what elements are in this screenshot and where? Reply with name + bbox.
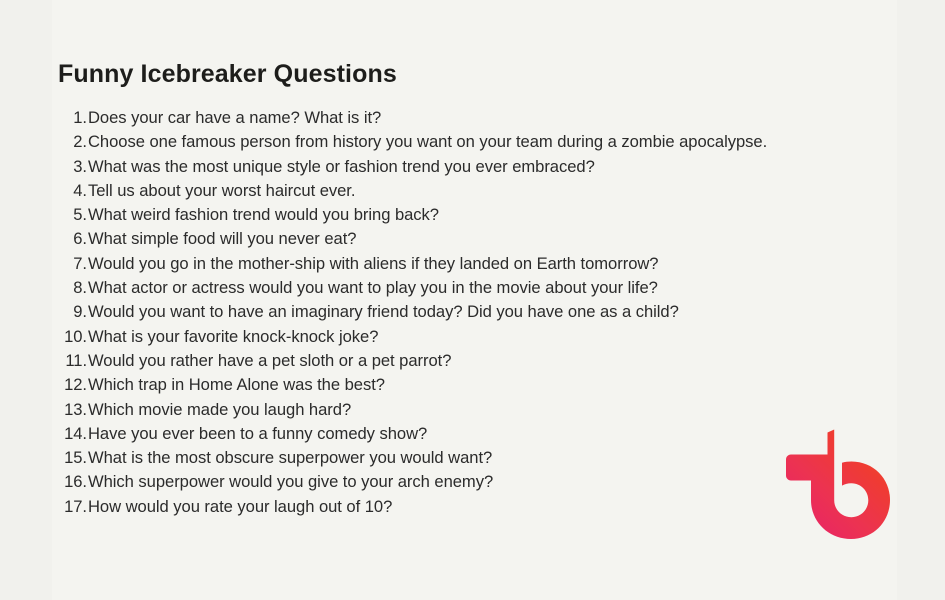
- list-item-number: 5.: [0, 203, 88, 227]
- list-item-text: Have you ever been to a funny comedy sho…: [88, 422, 778, 446]
- list-item: 2.Choose one famous person from history …: [0, 130, 860, 154]
- list-item-number: 10.: [0, 325, 88, 349]
- list-item-text: Does your car have a name? What is it?: [88, 106, 778, 130]
- list-item-text: Tell us about your worst haircut ever.: [88, 179, 778, 203]
- list-item-text: Which superpower would you give to your …: [88, 470, 778, 494]
- slide-canvas: Funny Icebreaker Questions 1.Does your c…: [0, 0, 945, 600]
- list-item: 8.What actor or actress would you want t…: [0, 276, 860, 300]
- list-item-text: Would you want to have an imaginary frie…: [88, 300, 778, 324]
- list-item: 4.Tell us about your worst haircut ever.: [0, 179, 860, 203]
- list-item-text: Would you go in the mother-ship with ali…: [88, 252, 778, 276]
- list-item: 5.What weird fashion trend would you bri…: [0, 203, 860, 227]
- list-item-text: Would you rather have a pet sloth or a p…: [88, 349, 778, 373]
- list-item-text: What was the most unique style or fashio…: [88, 155, 778, 179]
- list-item: 7.Would you go in the mother-ship with a…: [0, 252, 860, 276]
- list-item-number: 12.: [0, 373, 88, 397]
- list-item: 3.What was the most unique style or fash…: [0, 155, 860, 179]
- list-item-number: 14.: [0, 422, 88, 446]
- list-item-text: What is your favorite knock-knock joke?: [88, 325, 778, 349]
- list-item-number: 15.: [0, 446, 88, 470]
- list-item-number: 9.: [0, 300, 88, 324]
- list-item-number: 8.: [0, 276, 88, 300]
- list-item: 14.Have you ever been to a funny comedy …: [0, 422, 860, 446]
- list-item-text: What weird fashion trend would you bring…: [88, 203, 778, 227]
- list-item-text: Choose one famous person from history yo…: [88, 130, 778, 154]
- list-item-number: 3.: [0, 155, 88, 179]
- list-item-number: 16.: [0, 470, 88, 494]
- list-item: 10.What is your favorite knock-knock jok…: [0, 325, 860, 349]
- question-list: 1.Does your car have a name? What is it?…: [0, 106, 860, 519]
- list-item: 13.Which movie made you laugh hard?: [0, 398, 860, 422]
- list-item-number: 7.: [0, 252, 88, 276]
- list-item-number: 17.: [0, 495, 88, 519]
- list-item-number: 13.: [0, 398, 88, 422]
- list-item-number: 1.: [0, 106, 88, 130]
- list-item-number: 11.: [0, 349, 88, 373]
- list-item: 12.Which trap in Home Alone was the best…: [0, 373, 860, 397]
- right-edge-band: [897, 0, 945, 600]
- list-item: 16.Which superpower would you give to yo…: [0, 470, 860, 494]
- list-item-text: What simple food will you never eat?: [88, 227, 778, 251]
- list-item-number: 2.: [0, 130, 88, 154]
- list-item: 15.What is the most obscure superpower y…: [0, 446, 860, 470]
- list-item-text: What actor or actress would you want to …: [88, 276, 778, 300]
- list-item: 17.How would you rate your laugh out of …: [0, 495, 860, 519]
- list-item-text: Which movie made you laugh hard?: [88, 398, 778, 422]
- list-item-text: What is the most obscure superpower you …: [88, 446, 778, 470]
- list-item: 1.Does your car have a name? What is it?: [0, 106, 860, 130]
- list-item: 9.Would you want to have an imaginary fr…: [0, 300, 860, 324]
- list-item: 6.What simple food will you never eat?: [0, 227, 860, 251]
- list-item-text: Which trap in Home Alone was the best?: [88, 373, 778, 397]
- list-item-number: 6.: [0, 227, 88, 251]
- list-item: 11.Would you rather have a pet sloth or …: [0, 349, 860, 373]
- list-item-text: How would you rate your laugh out of 10?: [88, 495, 778, 519]
- page-title: Funny Icebreaker Questions: [58, 61, 397, 89]
- tb-monogram-logo: [784, 429, 892, 541]
- list-item-number: 4.: [0, 179, 88, 203]
